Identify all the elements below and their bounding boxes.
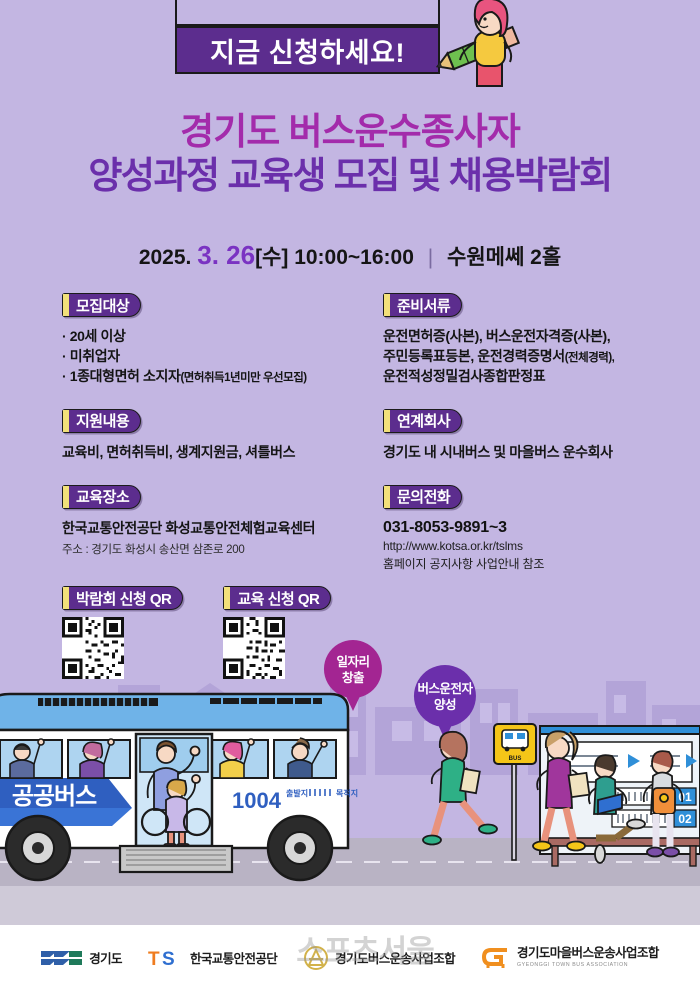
badge-qr-education: 교육 신청 QR	[223, 586, 331, 610]
headline: 경기도 버스운수종사자 양성과정 교육생 모집 및 채용박람회	[0, 110, 700, 197]
section-support: 지원내용 교육비, 면허취득비, 생계지원금, 셔틀버스	[62, 409, 372, 463]
bus-scene-illustration: 01 02 BUS	[0, 690, 700, 925]
badge-qr-expo: 박람회 신청 QR	[62, 586, 183, 610]
badge-venue-label: 교육장소	[76, 486, 129, 507]
badge-companies-label: 연계회사	[397, 410, 450, 431]
badge-target: 모집대상	[62, 293, 141, 317]
bus-route-origin: 출발지	[286, 788, 308, 798]
documents-line2-main: 주민등록표등본, 운전경력증명서	[383, 348, 565, 364]
companies-content: 경기도 내 시내버스 및 마을버스 운수회사	[383, 443, 683, 463]
logo-townbus-label: 경기도마을버스운송사업조합	[517, 946, 659, 962]
venue-content: 한국교통안전공단 화성교통안전체험교육센터 주소 : 경기도 화성시 송산면 삼…	[62, 519, 372, 558]
date-venue-line: 2025. 3. 26[수] 10:00~16:00 | 수원메쎄 2홀	[0, 240, 700, 271]
public-bus: 공공버스 1004 출발지	[0, 694, 358, 880]
section-target: 모집대상 · 20세 이상 · 미취업자 · 1종대형면허 소지자(면허취득1년…	[62, 293, 372, 387]
contact-phone[interactable]: 031-8053-9891~3	[383, 519, 683, 537]
venue-address: 주소 : 경기도 화성시 송산면 삼존로 200	[62, 541, 372, 557]
date-separator: |	[428, 246, 433, 269]
info-column-right: 준비서류 운전면허증(사본), 버스운전자격증(사본), 주민등록표등본, 운전…	[383, 293, 683, 587]
date-year: 2025.	[139, 246, 192, 269]
bus-sign-label: BUS	[509, 756, 522, 762]
gyeonggido-mark-icon	[41, 948, 83, 968]
shelter-panel-02: 02	[678, 812, 692, 826]
documents-line3: 운전적성정밀검사종합판정표	[383, 367, 683, 387]
section-venue: 교육장소 한국교통안전공단 화성교통안전체험교육센터 주소 : 경기도 화성시 …	[62, 485, 372, 558]
person-running-green	[423, 732, 497, 845]
support-content: 교육비, 면허취득비, 생계지원금, 셔틀버스	[62, 443, 372, 463]
girl-with-pencil-illustration	[430, 0, 530, 90]
logo-gyeonggido-label: 경기도	[89, 948, 122, 967]
headline-line1: 경기도 버스운수종사자	[0, 110, 700, 154]
contact-url[interactable]: http://www.kotsa.or.kr/tslms	[383, 537, 683, 555]
documents-line2: 주민등록표등본, 운전경력증명서(전체경력),	[383, 347, 683, 367]
headline-line2: 양성과정 교육생 모집 및 채용박람회	[0, 154, 700, 198]
badge-accent-bar	[384, 486, 390, 508]
logo-kotsa-label: 한국교통안전공단	[190, 948, 277, 967]
footer-logo-bar: 경기도 T S 한국교통안전공단 경기도버스운송사업조합	[0, 925, 700, 990]
badge-documents-label: 준비서류	[397, 295, 450, 316]
logo-gyeonggido: 경기도	[41, 948, 122, 968]
section-contact: 문의전화 031-8053-9891~3 http://www.kotsa.or…	[383, 485, 683, 573]
badge-accent-bar	[63, 587, 69, 609]
venue-name: 수원메쎄 2홀	[447, 246, 561, 269]
companies-text: 경기도 내 시내버스 및 마을버스 운수회사	[383, 443, 683, 463]
logo-townbus-association: 경기도마을버스운송사업조합 GYEONGGI TOWN BUS ASSOCIAT…	[481, 946, 659, 970]
bus-name-label: 공공버스	[12, 783, 97, 810]
logo-bus-association: 경기도버스운송사업조합	[303, 945, 455, 971]
contact-note: 홈페이지 공지사항 사업안내 참조	[383, 555, 683, 573]
ts-mark-icon: T S	[148, 948, 184, 968]
badge-contact: 문의전화	[383, 485, 462, 509]
bus-route-number: 1004	[232, 788, 282, 813]
badge-accent-bar	[384, 294, 390, 316]
badge-venue: 교육장소	[62, 485, 141, 509]
date-day-time: [수] 10:00~16:00	[255, 246, 414, 269]
badge-documents: 준비서류	[383, 293, 462, 317]
target-item3-note: (면허취득1년미만 우선모집)	[180, 372, 306, 384]
bus-route-destination: 목적지	[336, 788, 358, 798]
badge-qr-expo-label: 박람회 신청 QR	[76, 588, 171, 609]
badge-accent-bar	[63, 486, 69, 508]
poster-root: 지금 신청하세요! 경기도 버스운수종사자 양성과정 교육생 모집 및 채용박람…	[0, 0, 700, 990]
section-documents: 준비서류 운전면허증(사본), 버스운전자격증(사본), 주민등록표등본, 운전…	[383, 293, 683, 387]
badge-accent-bar	[63, 410, 69, 432]
svg-text:T: T	[148, 949, 160, 968]
banner-frame	[175, 0, 440, 26]
contact-content: 031-8053-9891~3 http://www.kotsa.or.kr/t…	[383, 519, 683, 573]
badge-accent-bar	[224, 587, 230, 609]
badge-qr-education-label: 교육 신청 QR	[237, 588, 319, 609]
support-text: 교육비, 면허취득비, 생계지원금, 셔틀버스	[62, 443, 372, 463]
badge-accent-bar	[63, 294, 69, 316]
badge-contact-label: 문의전화	[397, 486, 450, 507]
banner-text: 지금 신청하세요!	[210, 31, 405, 70]
bubble-jobs-line2: 창출	[342, 671, 364, 687]
badge-support-label: 지원내용	[76, 410, 129, 431]
bubble-jobs-line1: 일자리	[336, 655, 369, 671]
section-companies: 연계회사 경기도 내 시내버스 및 마을버스 운수회사	[383, 409, 683, 463]
target-item: · 미취업자	[62, 347, 372, 367]
info-column-left: 모집대상 · 20세 이상 · 미취업자 · 1종대형면허 소지자(면허취득1년…	[62, 293, 372, 571]
date-month-day: 3. 26	[197, 240, 255, 270]
venue-center-name: 한국교통안전공단 화성교통안전체험교육센터	[62, 519, 372, 539]
target-list: · 20세 이상 · 미취업자 · 1종대형면허 소지자(면허취득1년미만 우선…	[62, 327, 372, 387]
townbus-mark-icon	[481, 946, 511, 970]
logo-kotsa: T S 한국교통안전공단	[148, 948, 277, 968]
badge-support: 지원내용	[62, 409, 141, 433]
bus-association-mark-icon	[303, 945, 329, 971]
top-banner: 지금 신청하세요!	[175, 26, 440, 74]
target-item: · 1종대형면허 소지자(면허취득1년미만 우선모집)	[62, 367, 372, 387]
svg-text:S: S	[162, 949, 175, 968]
badge-companies: 연계회사	[383, 409, 462, 433]
logo-townbus-text: 경기도마을버스운송사업조합 GYEONGGI TOWN BUS ASSOCIAT…	[517, 946, 659, 968]
logo-townbus-sublabel: GYEONGGI TOWN BUS ASSOCIATION	[517, 962, 659, 969]
logo-bus-association-label: 경기도버스운송사업조합	[335, 948, 455, 967]
target-item3-main: · 1종대형면허 소지자	[62, 368, 180, 384]
badge-accent-bar	[384, 410, 390, 432]
target-item: · 20세 이상	[62, 327, 372, 347]
badge-target-label: 모집대상	[76, 295, 129, 316]
documents-line1: 운전면허증(사본), 버스운전자격증(사본),	[383, 327, 683, 347]
documents-line2-note: (전체경력),	[565, 352, 615, 364]
documents-list: 운전면허증(사본), 버스운전자격증(사본), 주민등록표등본, 운전경력증명서…	[383, 327, 683, 387]
